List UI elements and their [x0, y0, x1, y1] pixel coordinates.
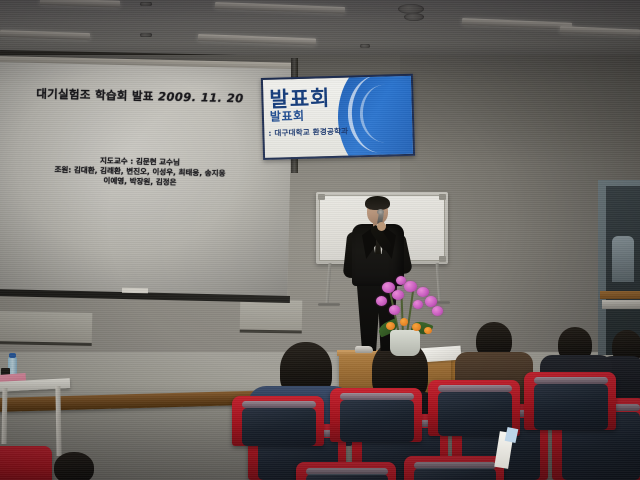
seat-front-2-bar	[414, 462, 496, 469]
orange-flower-2	[400, 318, 408, 326]
person-in-doorway: open doorway with person at desk	[612, 236, 634, 282]
wall-panel-left	[0, 311, 92, 346]
slide-title-text: 대기실험조 학습회 발표	[36, 87, 154, 104]
seat-back-2-pad	[340, 400, 414, 442]
whiteboard-corner-tl	[318, 194, 325, 200]
wall-panel-right	[240, 299, 303, 333]
seat-back-2-bar	[340, 393, 414, 400]
seat-back-1-pad	[242, 408, 316, 446]
banner-subline: 발표회	[270, 107, 305, 125]
banner-swoosh-graphic	[336, 74, 415, 160]
ceiling-sensor-2	[140, 33, 152, 37]
orange-flower-3	[412, 323, 421, 331]
whiteboard-corner-br	[439, 256, 446, 262]
flower-vase	[390, 330, 420, 356]
side-table-leg-left	[2, 388, 8, 444]
event-banner: 발표회 발표회 : 대구대학교 환경공학과	[261, 74, 415, 160]
whiteboard-foot-left	[318, 303, 340, 306]
orchid-bloom-2	[392, 290, 404, 300]
ceiling-sensor-3	[360, 44, 370, 48]
whiteboard-corner-tr	[439, 194, 446, 200]
seat-front-2-pad	[414, 468, 496, 480]
seat-back-1-bar	[242, 401, 316, 408]
seat-back-4-bar	[534, 377, 608, 384]
orchid-bloom-9	[413, 300, 423, 309]
lecture-hall-photo: 대기실험조 학습회 발표 2009. 11. 20 지도교수 : 김문현 교수님…	[0, 0, 640, 480]
doorway-desk-wood	[600, 291, 640, 299]
seat-back-3-bar	[438, 385, 512, 392]
orchid-bloom-7	[432, 306, 443, 316]
orchid-bloom-8	[389, 305, 400, 315]
orchid-bloom-10	[396, 276, 406, 285]
water-bottle-cap	[9, 353, 16, 358]
orchid-bloom-4	[404, 281, 417, 292]
ceiling-vent-2	[404, 13, 424, 21]
orange-flower-4	[424, 327, 432, 334]
slide-title-date: 2009. 11. 20	[158, 89, 244, 105]
presenter-hair	[365, 196, 390, 210]
doorway-desk	[602, 300, 640, 309]
orchid-bloom-3	[376, 296, 387, 306]
seat-back-3-pad	[438, 392, 512, 436]
projector-screen-weight	[122, 288, 148, 294]
attendee-left-edge-head	[54, 452, 94, 480]
seat-left-edge	[0, 446, 52, 480]
seat-back-4-pad	[534, 384, 608, 430]
presenter-hand	[377, 222, 386, 231]
orchid-bloom-5	[417, 287, 429, 297]
presenter-shoe	[355, 346, 373, 353]
orange-flower-1	[386, 322, 395, 330]
ceiling-sensor-1	[140, 2, 152, 6]
microphone-head-icon	[377, 209, 384, 215]
banner-organization: : 대구대학교 환경공학과	[268, 126, 348, 139]
seat-front-1-bar	[306, 468, 388, 475]
